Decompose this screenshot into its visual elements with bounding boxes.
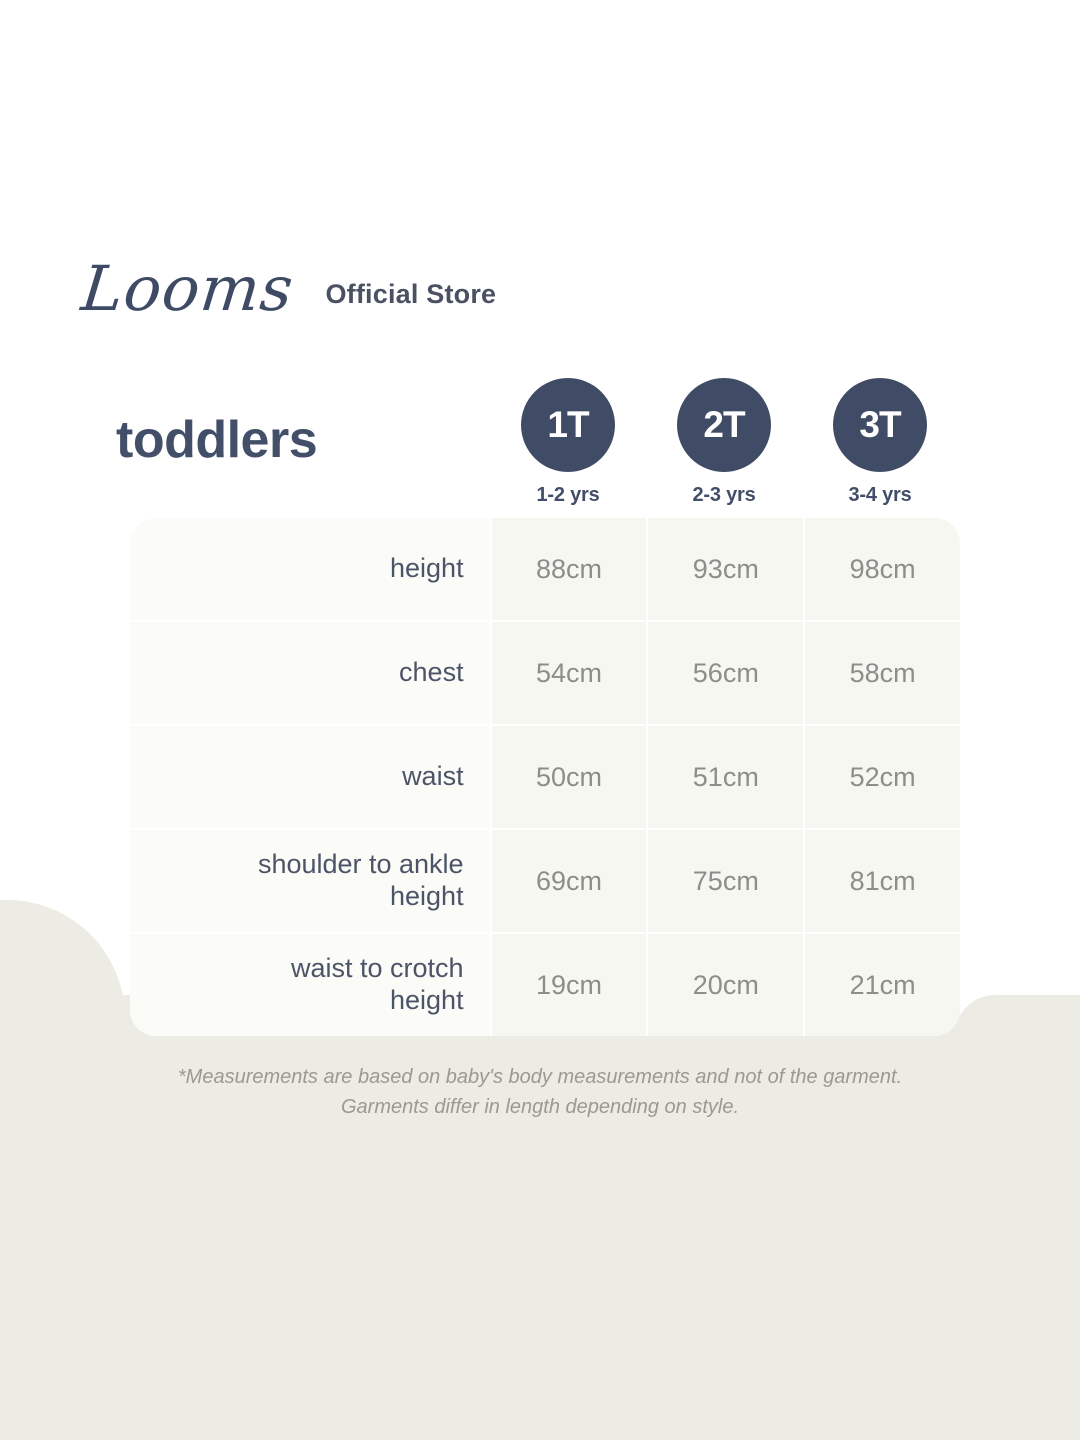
row-label: waist — [130, 726, 490, 828]
row-value: 21cm — [803, 934, 960, 1036]
official-store-label: Official Store — [325, 279, 496, 320]
row-value: 75cm — [646, 830, 803, 932]
footnote-line-2: Garments differ in length depending on s… — [90, 1092, 990, 1122]
row-label: height — [130, 518, 490, 620]
size-chart-page: Looms Official Store toddlers 1T 1-2 yrs… — [0, 0, 1080, 1440]
row-value: 50cm — [490, 726, 647, 828]
row-value: 98cm — [803, 518, 960, 620]
measurement-table: height 88cm 93cm 98cm chest 54cm 56cm 58… — [130, 518, 960, 1036]
size-badge-circle: 1T — [521, 378, 615, 472]
footnote: *Measurements are based on baby's body m… — [90, 1062, 990, 1122]
background-shape-bottom — [0, 1130, 1080, 1440]
row-label-text: chest — [399, 657, 464, 689]
row-label-line2: height — [390, 881, 464, 911]
row-label-line2: height — [390, 985, 464, 1015]
size-badge-1t: 1T 1-2 yrs — [490, 378, 646, 507]
row-label-text: shoulder to ankle height — [258, 849, 464, 913]
size-badge-age: 1-2 yrs — [536, 484, 599, 507]
size-badge-3t: 3T 3-4 yrs — [802, 378, 958, 507]
row-value: 54cm — [490, 622, 647, 724]
size-badge-2t: 2T 2-3 yrs — [646, 378, 802, 507]
table-row: chest 54cm 56cm 58cm — [130, 622, 960, 726]
table-row: shoulder to ankle height 69cm 75cm 81cm — [130, 830, 960, 934]
looms-logo: Looms — [79, 258, 297, 320]
row-value: 52cm — [803, 726, 960, 828]
row-label-text: waist to crotch height — [291, 953, 464, 1017]
row-label-text: height — [390, 553, 464, 585]
size-badge-circle: 3T — [833, 378, 927, 472]
row-value: 56cm — [646, 622, 803, 724]
row-label: waist to crotch height — [130, 934, 490, 1036]
row-label: chest — [130, 622, 490, 724]
row-value: 81cm — [803, 830, 960, 932]
row-value: 69cm — [490, 830, 647, 932]
row-label: shoulder to ankle height — [130, 830, 490, 932]
row-label-text: waist — [402, 761, 464, 793]
size-badge-age: 2-3 yrs — [692, 484, 755, 507]
table-row: waist 50cm 51cm 52cm — [130, 726, 960, 830]
size-badge-row: 1T 1-2 yrs 2T 2-3 yrs 3T 3-4 yrs — [490, 378, 960, 507]
row-value: 88cm — [490, 518, 647, 620]
brand-header: Looms Official Store — [82, 258, 496, 320]
row-value: 58cm — [803, 622, 960, 724]
footnote-line-1: *Measurements are based on baby's body m… — [90, 1062, 990, 1092]
size-badge-circle: 2T — [677, 378, 771, 472]
table-row: height 88cm 93cm 98cm — [130, 518, 960, 622]
row-value: 20cm — [646, 934, 803, 1036]
table-row: waist to crotch height 19cm 20cm 21cm — [130, 934, 960, 1036]
row-value: 19cm — [490, 934, 647, 1036]
row-value: 93cm — [646, 518, 803, 620]
row-label-line1: waist to crotch — [291, 953, 464, 983]
row-label-line1: shoulder to ankle — [258, 849, 464, 879]
page-title: toddlers — [116, 410, 317, 470]
size-badge-age: 3-4 yrs — [848, 484, 911, 507]
row-value: 51cm — [646, 726, 803, 828]
